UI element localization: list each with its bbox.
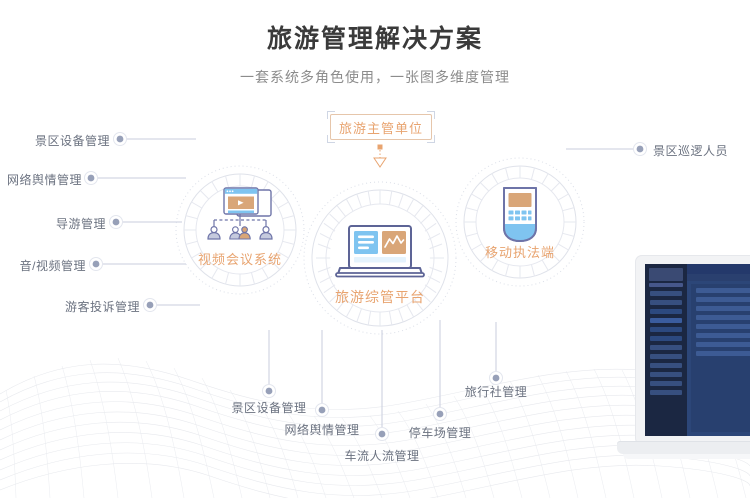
dashboard-menu-item (650, 390, 682, 395)
badge-corner-bottom-left (327, 135, 335, 143)
connector-dot (434, 408, 447, 421)
node-video-conference[interactable]: 视频会议系统 (165, 245, 315, 268)
connector-dot (110, 216, 123, 229)
left-label-1[interactable]: 网络舆情管理 (0, 171, 82, 188)
laptop-lid (635, 255, 750, 445)
left-label-3[interactable]: 音/视频管理 (0, 257, 86, 274)
dashboard-menu-item (650, 291, 682, 296)
bottom-label-0[interactable]: 景区设备管理 (229, 399, 309, 416)
node-platform[interactable]: 旅游综管平台 (305, 283, 455, 307)
bottom-label-2[interactable]: 车流人流管理 (342, 447, 422, 464)
node-label-mobile-enforcement: 移动执法端 (445, 242, 595, 261)
node-label-platform: 旅游综管平台 (305, 287, 455, 307)
laptop-foot (623, 454, 750, 459)
dashboard-menu-item (650, 363, 682, 368)
node-ring-video-conference (176, 166, 304, 294)
laptop-mockup (617, 255, 750, 480)
badge-corner-top-right (427, 111, 435, 119)
dashboard-tree-row (696, 315, 750, 320)
badge-connector (374, 145, 386, 168)
connector-dot (316, 404, 329, 417)
connector-dot (634, 143, 647, 156)
authority-badge-label: 旅游主管单位 (339, 118, 423, 137)
dashboard-menu-item (650, 381, 682, 386)
dashboard-tree-row (696, 288, 750, 293)
right-label-0[interactable]: 景区巡逻人员 (653, 142, 750, 159)
bottom-label-4[interactable]: 旅行社管理 (456, 383, 536, 400)
connector-dot (263, 385, 276, 398)
laptop-dashboard-icon (336, 226, 424, 277)
solution-diagram-page: 旅游管理解决方案 一套系统多角色使用，一张图多维度管理 (0, 0, 750, 498)
connector-dot (85, 172, 98, 185)
bottom-label-3[interactable]: 停车场管理 (400, 424, 480, 441)
dashboard-tabbar (687, 274, 750, 281)
dashboard-subtitle-bar (649, 283, 683, 287)
dashboard-menu-item (650, 345, 682, 350)
laptop-base (617, 441, 750, 454)
dashboard-tree-row (696, 351, 750, 356)
dashboard-menu-item (650, 318, 682, 323)
dashboard-tree-row (696, 342, 750, 347)
bottom-connector-lines (269, 320, 496, 434)
left-connector-lines (91, 139, 200, 305)
node-label-video-conference: 视频会议系统 (165, 249, 315, 268)
connector-dot (114, 133, 127, 146)
dashboard-topbar (687, 264, 750, 274)
left-label-4[interactable]: 游客投诉管理 (30, 298, 140, 315)
dashboard-sidebar (645, 264, 687, 436)
dashboard-tree-row (696, 306, 750, 311)
dashboard-tree-row (696, 333, 750, 338)
badge-corner-top-left (327, 111, 335, 119)
dashboard-menu-item (650, 372, 682, 377)
handheld-terminal-icon (504, 188, 536, 241)
node-mobile-enforcement[interactable]: 移动执法端 (445, 238, 595, 261)
dashboard-menu-item (650, 336, 682, 341)
dashboard-tree-panel (691, 284, 750, 432)
connector-dot (90, 258, 103, 271)
connector-dot (144, 299, 157, 312)
bottom-label-1[interactable]: 网络舆情管理 (282, 421, 362, 438)
dashboard-menu-item (650, 327, 682, 332)
left-label-0[interactable]: 景区设备管理 (0, 132, 110, 149)
dashboard-tree-row (696, 324, 750, 329)
dashboard-menu-item (650, 354, 682, 359)
dashboard-menu-item (650, 300, 682, 305)
left-label-2[interactable]: 导游管理 (0, 215, 106, 232)
laptop-screen (645, 264, 750, 436)
connector-dot (376, 428, 389, 441)
dashboard-content (687, 264, 750, 436)
dashboard-tree-row (696, 297, 750, 302)
dashboard-logo (649, 268, 683, 281)
dashboard-menu-item (650, 309, 682, 314)
video-conference-icon (208, 188, 272, 239)
badge-corner-bottom-right (427, 135, 435, 143)
authority-badge[interactable]: 旅游主管单位 (330, 114, 432, 140)
